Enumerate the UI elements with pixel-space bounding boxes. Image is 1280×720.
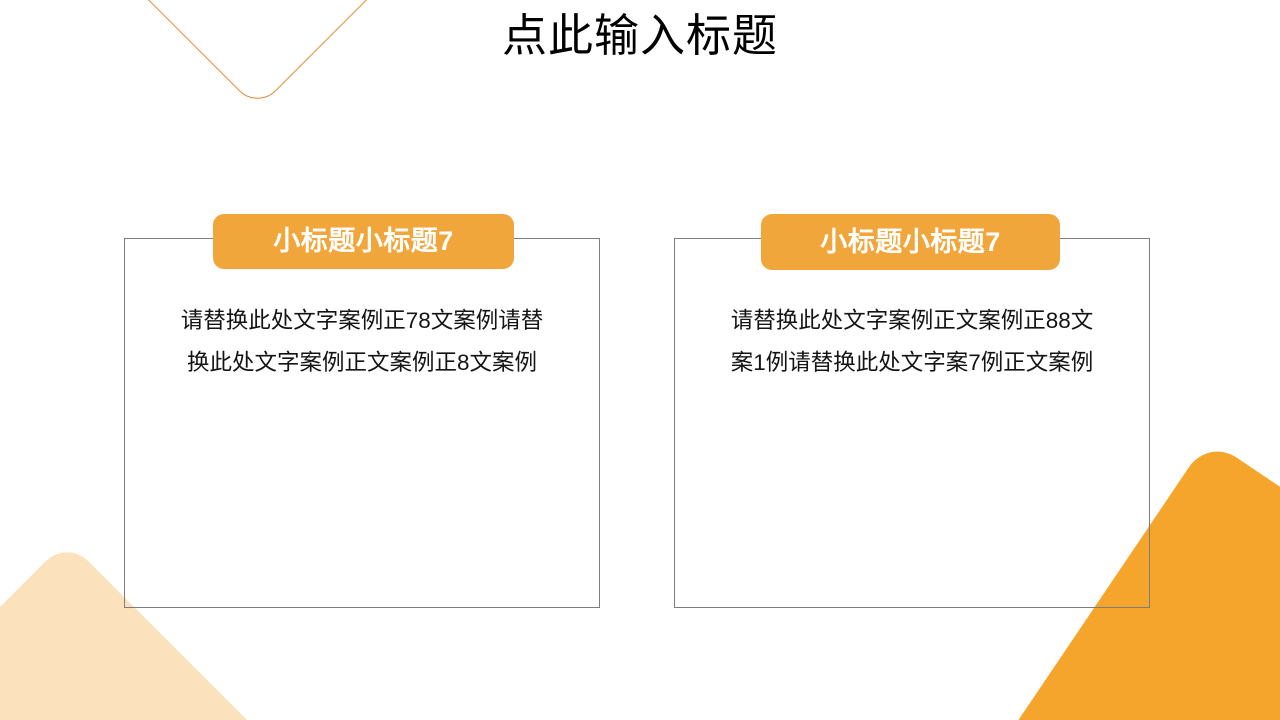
card-right-body-line-2: 案1例请替换此处文字案7例正文案例 [674,342,1150,384]
card-left-body-line-2: 换此处文字案例正文案例正8文案例 [124,342,600,384]
card-left-heading-pill[interactable]: 小标题小标题7 [213,214,514,269]
card-right-heading-label: 小标题小标题7 [820,229,1001,256]
card-right-heading-pill[interactable]: 小标题小标题7 [761,214,1060,270]
decorative-shape-bottom-left [0,600,212,720]
card-left-heading-label: 小标题小标题7 [273,228,454,255]
card-right-body-line-1: 请替换此处文字案例正文案例正88文 [674,300,1150,342]
page-title: 点此输入标题 [0,8,1280,64]
content-card-right [674,238,1150,608]
content-card-left [124,238,600,608]
slide-canvas: 点此输入标题 小标题小标题7 请替换此处文字案例正78文案例请替 换此处文字案例… [0,0,1280,720]
card-left-body-line-1: 请替换此处文字案例正78文案例请替 [124,300,600,342]
card-left-body-text: 请替换此处文字案例正78文案例请替 换此处文字案例正文案例正8文案例 [124,300,600,384]
card-right-body-text: 请替换此处文字案例正文案例正88文 案1例请替换此处文字案7例正文案例 [674,300,1150,384]
